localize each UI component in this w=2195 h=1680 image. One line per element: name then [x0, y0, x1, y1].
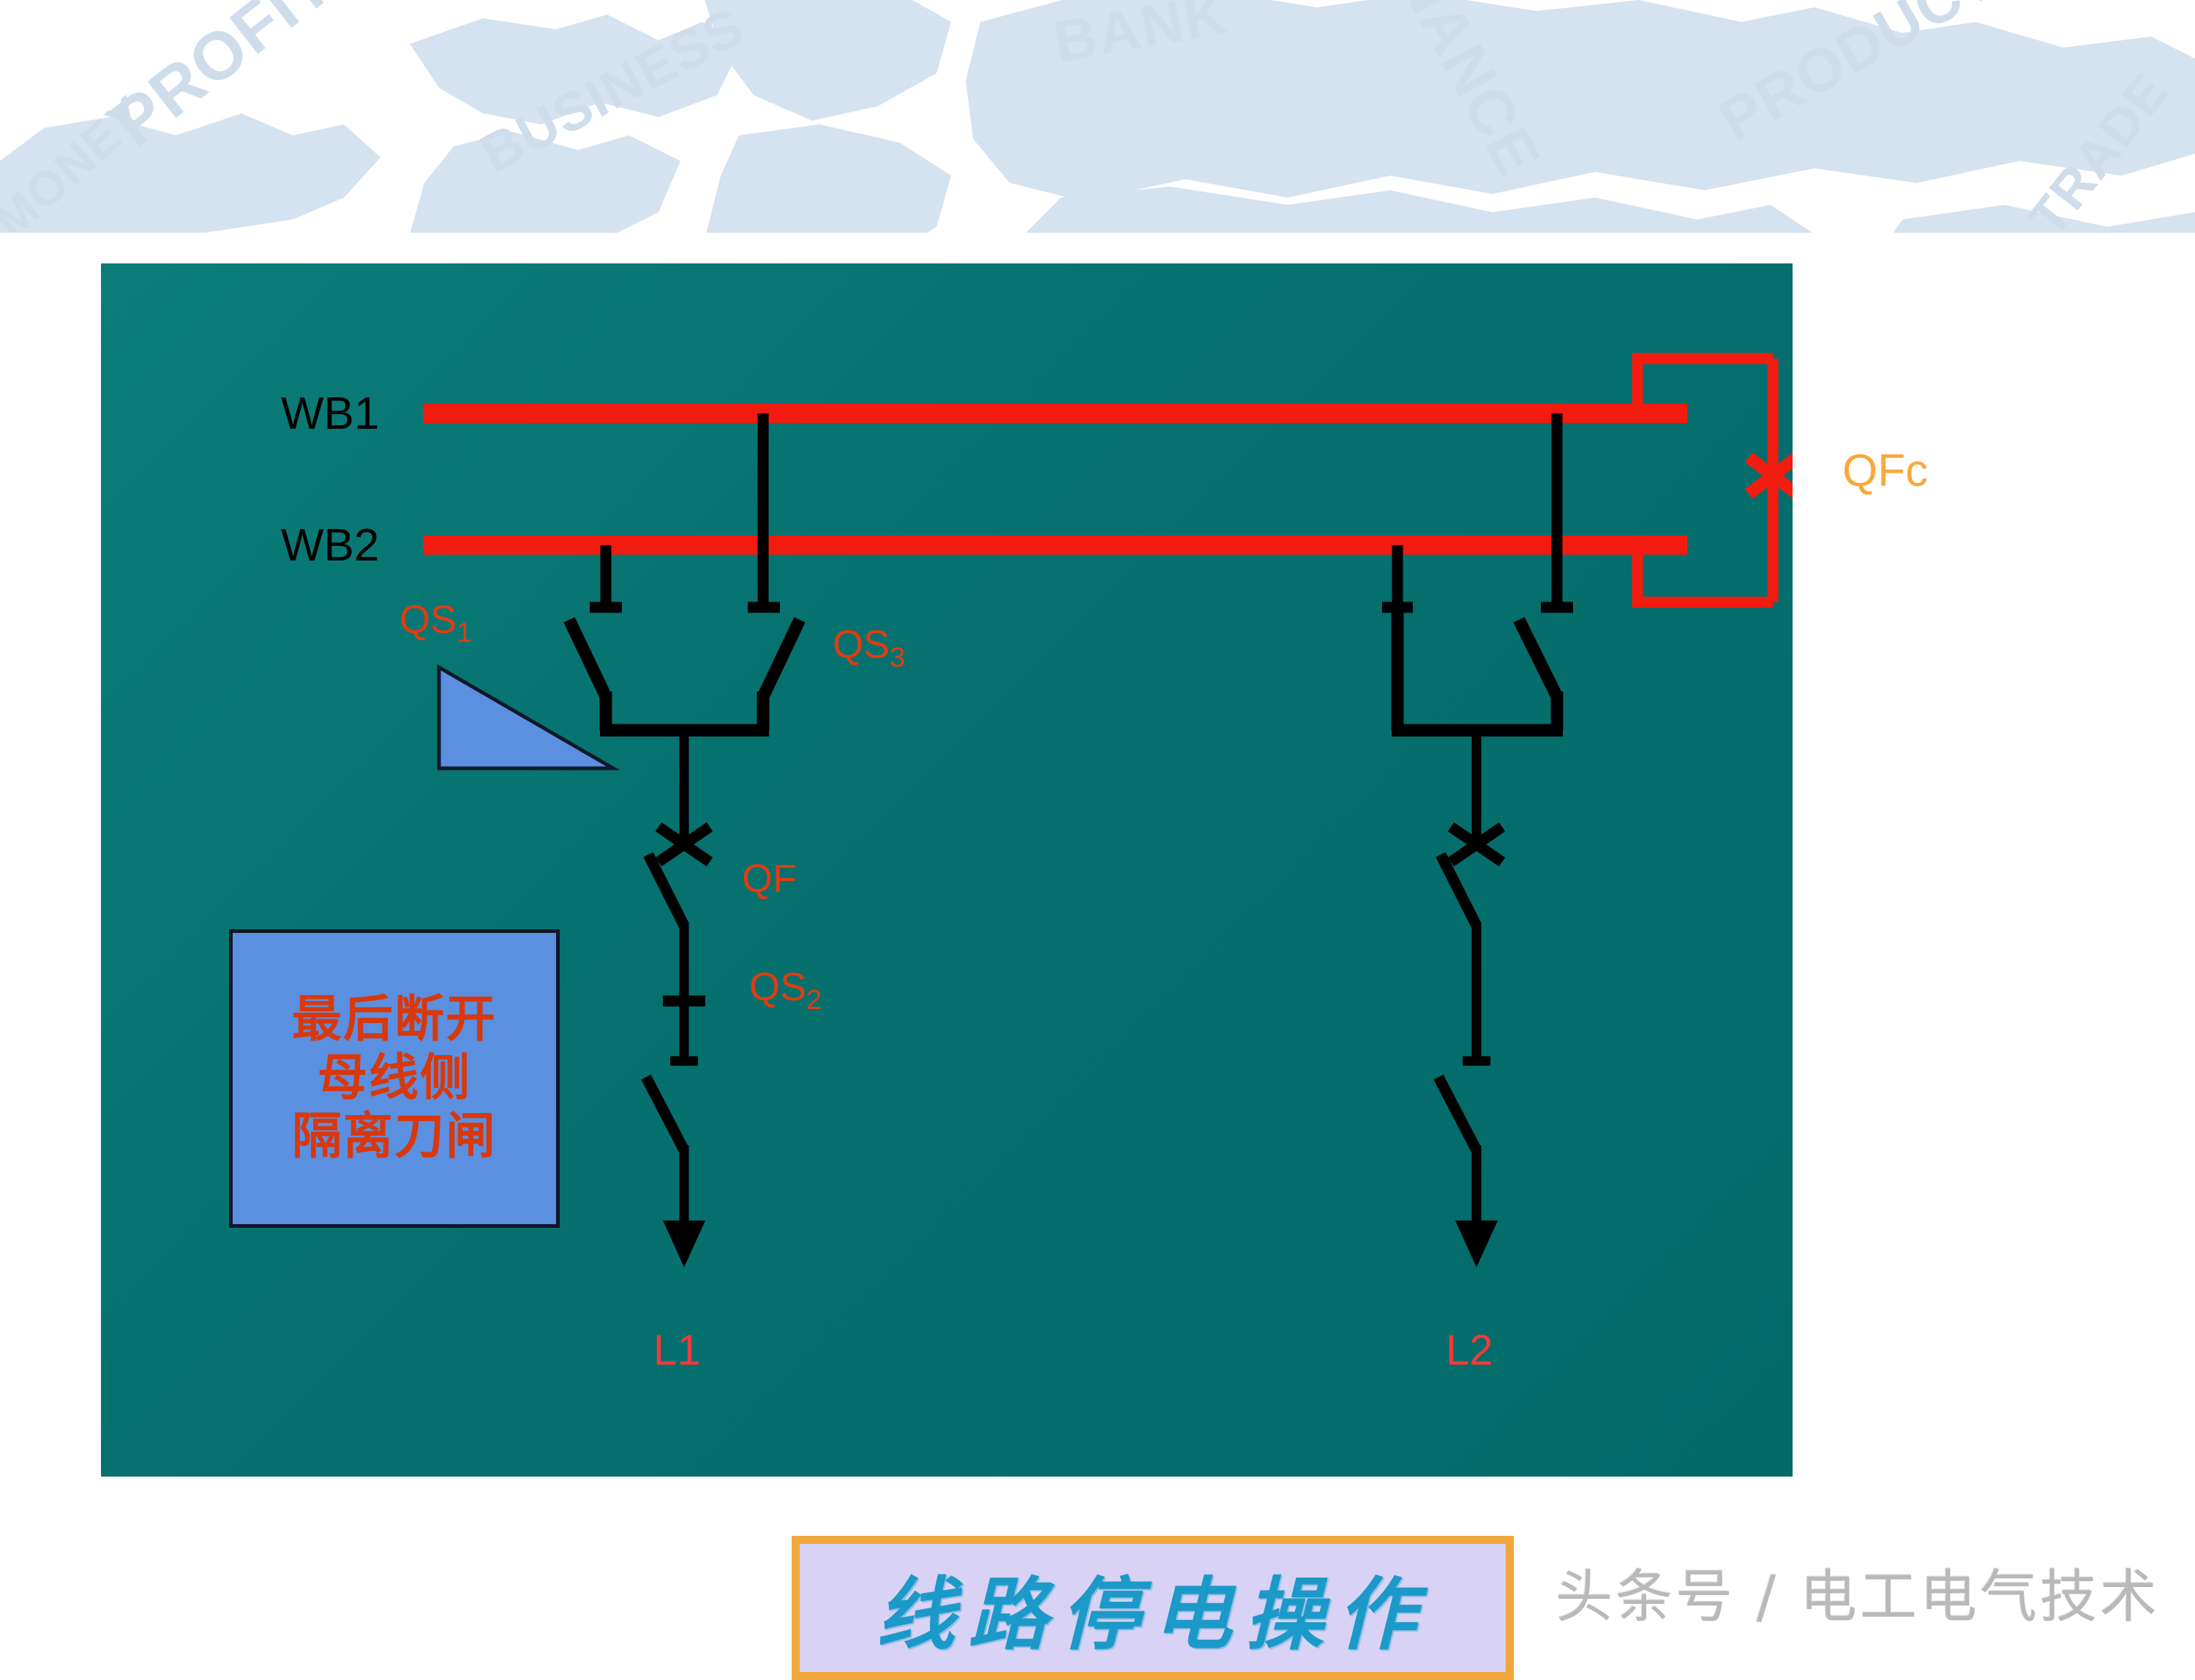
top-watermark-banner: PROFIT MONEY BUSINESS BANK FINANCE PRODU… — [0, 0, 2195, 233]
switch-label-qs2: QS2 — [749, 964, 822, 1016]
switch-label-qs1-text: QS — [399, 598, 457, 642]
right-bay-breaker-blade — [1441, 855, 1477, 926]
switch-label-qs2-sub: 2 — [806, 985, 822, 1016]
diagram-title-box: 线路停电操作 — [792, 1536, 1514, 1680]
qs1-blade — [569, 620, 606, 697]
right-bay-line-isolator-blade — [1438, 1077, 1477, 1150]
attribution-watermark: 头条号 / 电工电气技术 — [1556, 1551, 2160, 1633]
feeder-label-l1: L1 — [653, 1326, 701, 1375]
line-isolator-blade — [646, 1077, 684, 1150]
switch-label-qs3-sub: 3 — [890, 642, 905, 673]
diagram-title-text: 线路停电操作 — [876, 1551, 1429, 1665]
busbar-label-wb1: WB1 — [281, 388, 379, 440]
busbar-label-wb2: WB2 — [281, 520, 379, 571]
switch-label-qs1-sub: 1 — [457, 618, 472, 648]
qf-blade — [648, 855, 684, 926]
l1-feeder-arrowhead — [663, 1220, 705, 1267]
single-line-diagram-panel: WB1 WB2 QS1 QS3 QF QS2 QFc L1 L2 最后断开 母线… — [101, 263, 1793, 1477]
callout-pointer — [439, 667, 613, 768]
switch-label-qs3-text: QS — [833, 623, 890, 667]
callout-line-1: 最后断开 — [292, 991, 497, 1049]
switch-label-qs3: QS3 — [833, 622, 905, 674]
qs3-blade — [763, 620, 800, 697]
circuit-schematic — [101, 263, 1793, 1477]
bus-coupler-label-qfc: QFc — [1842, 445, 1928, 497]
switch-label-qs1: QS1 — [399, 597, 472, 649]
callout-box-last-to-open: 最后断开 母线侧 隔离刀闸 — [229, 929, 560, 1228]
feeder-label-l2: L2 — [1446, 1326, 1493, 1375]
switch-label-qs2-text: QS — [749, 965, 806, 1009]
right-bay-qs3-blade-open — [1519, 620, 1557, 697]
callout-line-3: 隔离刀闸 — [292, 1108, 497, 1166]
callout-line-2: 母线侧 — [318, 1049, 471, 1108]
switch-label-qf: QF — [742, 856, 797, 901]
l2-feeder-arrowhead — [1455, 1220, 1498, 1267]
